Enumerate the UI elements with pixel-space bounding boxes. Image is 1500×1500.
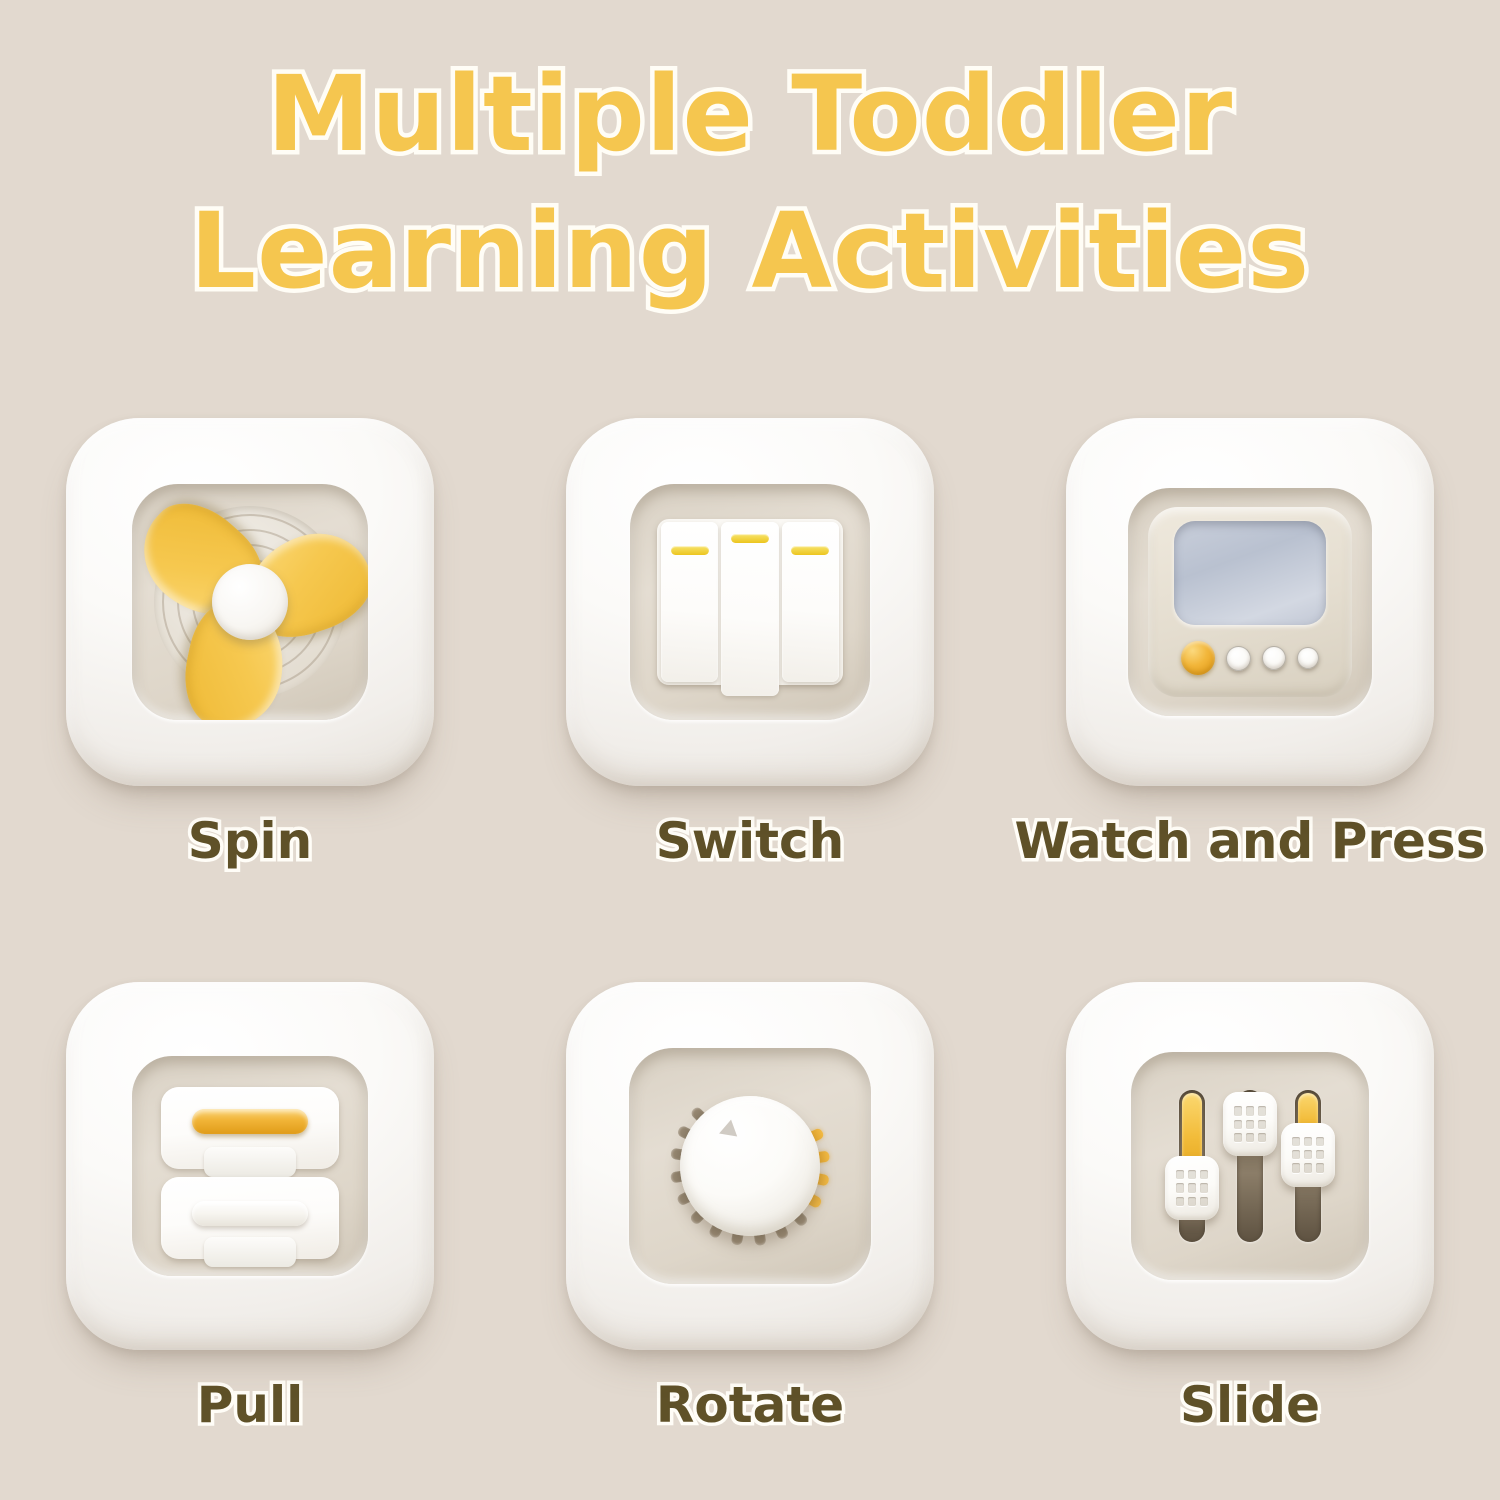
pull-drawer-bottom[interactable] — [161, 1177, 339, 1259]
pull-handle-white[interactable] — [192, 1201, 308, 1226]
rotary-knob-icon[interactable] — [680, 1096, 820, 1236]
tv-button-white-3[interactable] — [1297, 647, 1319, 669]
tv-screen — [1174, 521, 1326, 625]
knob-pointer-icon — [704, 1120, 737, 1147]
slider-thumb-2[interactable] — [1223, 1092, 1277, 1156]
rotate-recess — [629, 1048, 871, 1284]
tile-spin[interactable] — [66, 418, 434, 786]
activity-card-pull: Pull — [0, 982, 500, 1434]
tile-watch-and-press[interactable] — [1066, 418, 1434, 786]
caption-slide: Slide — [1180, 1376, 1320, 1434]
pull-recess — [132, 1056, 368, 1276]
rocker-left[interactable] — [661, 522, 718, 682]
activity-card-slide: Slide — [1000, 982, 1500, 1434]
caption-watch-and-press: Watch and Press — [1015, 812, 1486, 870]
rocker-right[interactable] — [782, 522, 839, 682]
tv-button-row — [1181, 641, 1319, 675]
caption-pull: Pull — [197, 1376, 304, 1434]
fan-hub — [212, 564, 288, 640]
activity-card-switch: Switch — [500, 418, 1000, 870]
switch-recess — [630, 484, 870, 720]
activity-card-watch-and-press: Watch and Press — [1000, 418, 1500, 870]
slide-recess — [1131, 1052, 1369, 1280]
tv-button-white-1[interactable] — [1226, 646, 1251, 671]
page-title: Multiple Toddler Learning Activities — [0, 0, 1500, 321]
rocker-middle[interactable] — [721, 522, 778, 696]
tile-switch[interactable] — [566, 418, 934, 786]
pull-handle-orange[interactable] — [192, 1109, 308, 1134]
slider-thumb-1[interactable] — [1165, 1156, 1219, 1220]
tile-rotate[interactable] — [566, 982, 934, 1350]
tv-button-orange[interactable] — [1181, 641, 1215, 675]
pull-drawer-top[interactable] — [161, 1087, 339, 1169]
tv-button-white-2[interactable] — [1262, 646, 1286, 670]
caption-rotate: Rotate — [656, 1376, 844, 1434]
fan-recess — [132, 484, 368, 720]
tile-slide[interactable] — [1066, 982, 1434, 1350]
title-line-1: Multiple Toddler — [0, 46, 1500, 183]
slider-fader-icon — [1179, 1090, 1321, 1242]
slider-track-1[interactable] — [1179, 1090, 1205, 1242]
activity-card-spin: Spin — [0, 418, 500, 870]
caption-switch: Switch — [656, 812, 844, 870]
pull-drawer-icon — [161, 1087, 339, 1245]
activity-card-rotate: Rotate — [500, 982, 1000, 1434]
rocker-switch-icon[interactable] — [657, 519, 843, 685]
slider-track-3[interactable] — [1295, 1090, 1321, 1242]
caption-spin: Spin — [188, 812, 313, 870]
tile-pull[interactable] — [66, 982, 434, 1350]
television-icon — [1148, 507, 1352, 697]
tv-recess — [1128, 488, 1372, 716]
title-line-2: Learning Activities — [0, 183, 1500, 320]
activity-grid: Spin Switch — [0, 418, 1500, 1434]
slider-thumb-3[interactable] — [1281, 1123, 1335, 1187]
slider-track-2[interactable] — [1237, 1090, 1263, 1242]
